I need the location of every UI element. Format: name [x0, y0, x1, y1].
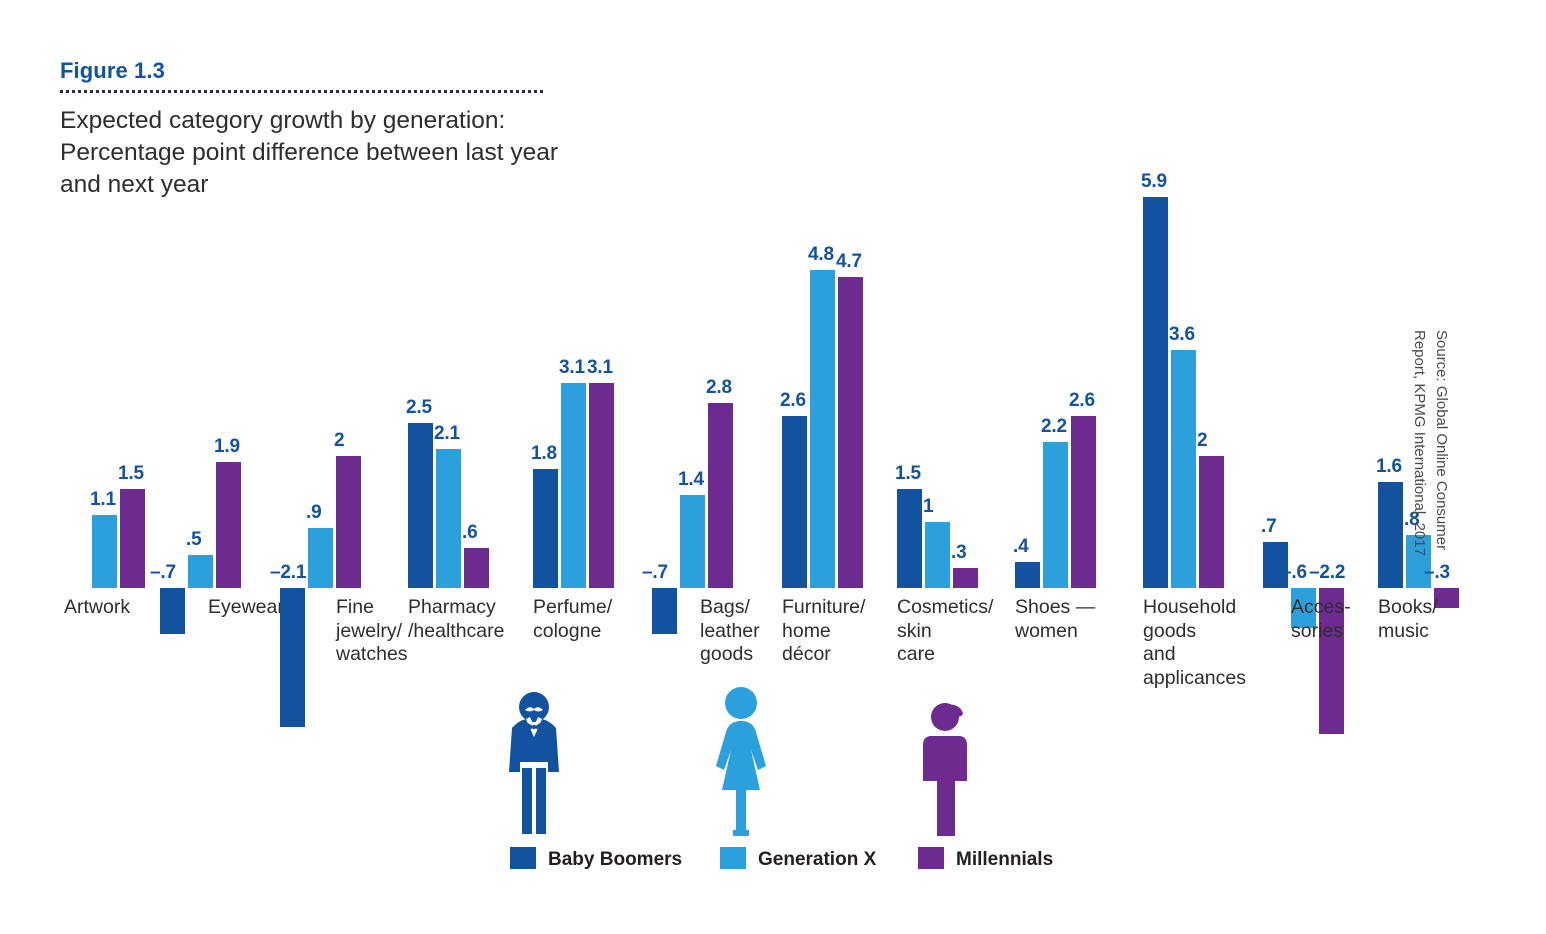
bar-millennials: [216, 462, 241, 588]
bar-value-label: 1.1: [90, 489, 116, 511]
bar-value-label: 2.1: [434, 423, 460, 445]
bar-baby-boomers: [280, 588, 305, 727]
category-label: Perfume/ cologne: [533, 596, 663, 643]
bar-value-label: 1.8: [531, 443, 557, 465]
bar-millennials: [953, 568, 978, 588]
bar-value-label: 4.7: [836, 251, 862, 273]
man-suit-pictogram: [498, 690, 570, 845]
bar-value-label: .6: [462, 522, 477, 544]
bar-value-label: –.6: [1281, 562, 1307, 584]
legend-label-millennials: Millennials: [956, 849, 1053, 871]
bar-value-label: 3.1: [587, 357, 613, 379]
bar-generation-x: [925, 522, 950, 588]
bar-value-label: .5: [186, 529, 201, 551]
bar-value-label: 3.1: [559, 357, 585, 379]
bar-baby-boomers: [533, 469, 558, 588]
category-label: Household goods and applicances: [1143, 596, 1273, 690]
bar-value-label: 5.9: [1141, 171, 1167, 193]
bar-generation-x: [92, 515, 117, 588]
bar-baby-boomers: [1378, 482, 1403, 588]
bar-value-label: 2.2: [1041, 416, 1067, 438]
bar-millennials: [589, 383, 614, 588]
bar-value-label: 4.8: [808, 244, 834, 266]
legend-swatch-baby-boomers: [510, 847, 536, 869]
bar-baby-boomers: [408, 423, 433, 589]
bar-generation-x: [188, 555, 213, 588]
bar-value-label: 2: [1197, 430, 1207, 452]
bar-value-label: 1.9: [214, 436, 240, 458]
source-note: Source: Global Online Consumer Report, K…: [1409, 330, 1453, 620]
bar-value-label: 1.4: [678, 469, 704, 491]
bar-baby-boomers: [160, 588, 185, 634]
bar-value-label: –2.2: [1309, 562, 1345, 584]
legend-swatch-generation-x: [720, 847, 746, 869]
bar-value-label: –.7: [642, 562, 668, 584]
bar-value-label: 1.5: [118, 463, 144, 485]
bar-value-label: 3.6: [1169, 324, 1195, 346]
bar-baby-boomers: [897, 489, 922, 588]
bar-generation-x: [1171, 350, 1196, 588]
bar-generation-x: [561, 383, 586, 588]
category-label: Cosmetics/ skin care: [897, 596, 1027, 667]
person-cap-pictogram: [912, 700, 984, 847]
bar-value-label: –.7: [150, 562, 176, 584]
bar-value-label: 2.6: [780, 390, 806, 412]
bar-value-label: .3: [951, 542, 966, 564]
chart-legend: Baby Boomers Generation X Millennials: [480, 690, 1080, 875]
bar-generation-x: [436, 449, 461, 588]
bar-baby-boomers: [1015, 562, 1040, 588]
bar-value-label: 1.6: [1376, 456, 1402, 478]
bar-millennials: [336, 456, 361, 588]
bar-baby-boomers: [652, 588, 677, 634]
woman-dress-pictogram: [705, 685, 777, 845]
bar-value-label: 2: [334, 430, 344, 452]
bar-baby-boomers: [782, 416, 807, 588]
bar-generation-x: [1043, 442, 1068, 588]
bar-group: –2.1.92Fine jewelry/ watches: [280, 0, 421, 934]
bar-millennials: [464, 548, 489, 588]
bar-millennials: [1199, 456, 1224, 588]
legend-label-generation-x: Generation X: [758, 849, 876, 871]
bar-millennials: [120, 489, 145, 588]
bar-value-label: 1: [923, 496, 933, 518]
bar-generation-x: [308, 528, 333, 588]
category-label: Shoes — women: [1015, 596, 1145, 643]
legend-label-baby-boomers: Baby Boomers: [548, 849, 682, 871]
bar-value-label: 1.5: [895, 463, 921, 485]
bar-millennials: [708, 403, 733, 588]
bar-value-label: 2.8: [706, 377, 732, 399]
bar-millennials: [838, 277, 863, 588]
bar-value-label: 2.5: [406, 397, 432, 419]
bar-value-label: .4: [1013, 536, 1028, 558]
bar-value-label: .7: [1261, 516, 1276, 538]
legend-swatch-millennials: [918, 847, 944, 869]
bar-value-label: .9: [306, 502, 321, 524]
bar-generation-x: [810, 270, 835, 588]
bar-millennials: [1071, 416, 1096, 588]
bar-baby-boomers: [1143, 197, 1168, 588]
category-label: Pharmacy /healthcare: [408, 596, 538, 643]
category-label: Furniture/ home décor: [782, 596, 912, 667]
bar-generation-x: [680, 495, 705, 588]
bar-value-label: –2.1: [270, 562, 306, 584]
bar-value-label: 2.6: [1069, 390, 1095, 412]
